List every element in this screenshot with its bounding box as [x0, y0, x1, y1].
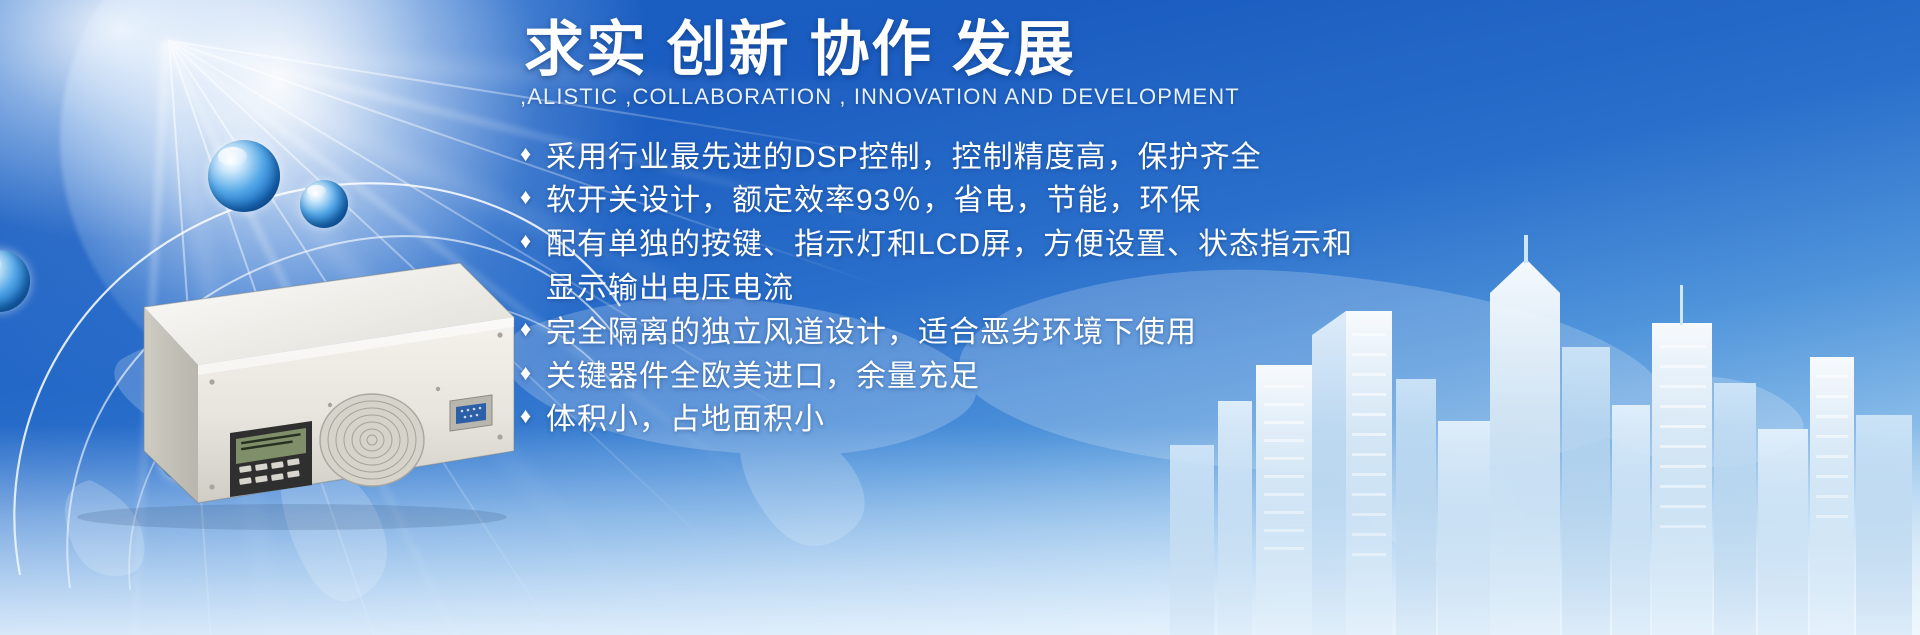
list-item: ♦ 软开关设计，额定效率93％，省电，节能，环保 [520, 179, 1686, 223]
feature-bullet-list: ♦ 采用行业最先进的DSP控制，控制精度高，保护齐全 ♦ 软开关设计，额定效率9… [506, 136, 1686, 443]
banner-headline: 求实 创新 协作 发展 [506, 18, 1686, 82]
list-item-continuation: ♦ 显示输出电压电流 [520, 267, 1686, 311]
list-item-label: 完全隔离的独立风道设计，适合恶劣环境下使用 [546, 311, 1197, 355]
diamond-bullet-icon: ♦ [520, 136, 546, 172]
list-item-label: 采用行业最先进的DSP控制，控制精度高，保护齐全 [546, 136, 1262, 180]
product-device-image [52, 255, 522, 530]
diamond-bullet-icon: ♦ [520, 355, 546, 391]
diamond-bullet-icon: ♦ [520, 311, 546, 347]
banner-text-column: 求实 创新 协作 发展 ,ALISTIC ,COLLABORATION , IN… [506, 18, 1686, 442]
list-item: ♦ 配有单独的按键、指示灯和LCD屏，方便设置、状态指示和 [520, 223, 1686, 267]
list-item: ♦ 关键器件全欧美进口，余量充足 [520, 355, 1686, 399]
diamond-bullet-icon: ♦ [520, 179, 546, 215]
diamond-bullet-icon: ♦ [520, 398, 546, 434]
list-item: ♦ 体积小，占地面积小 [520, 398, 1686, 442]
list-item: ♦ 完全隔离的独立风道设计，适合恶劣环境下使用 [520, 311, 1686, 355]
globe-icon-1 [0, 250, 30, 312]
list-item-label: 关键器件全欧美进口，余量充足 [546, 355, 980, 399]
diamond-bullet-icon: ♦ [520, 223, 546, 259]
list-item-label: 体积小，占地面积小 [546, 398, 825, 442]
list-item-label: 显示输出电压电流 [546, 267, 794, 311]
list-item-label: 软开关设计，额定效率93％，省电，节能，环保 [546, 179, 1201, 223]
product-banner: 求实 创新 协作 发展 ,ALISTIC ,COLLABORATION , IN… [0, 0, 1920, 635]
list-item: ♦ 采用行业最先进的DSP控制，控制精度高，保护齐全 [520, 136, 1686, 180]
banner-subheadline: ,ALISTIC ,COLLABORATION , INNOVATION AND… [506, 84, 1686, 110]
list-item-label: 配有单独的按键、指示灯和LCD屏，方便设置、状态指示和 [546, 223, 1353, 267]
